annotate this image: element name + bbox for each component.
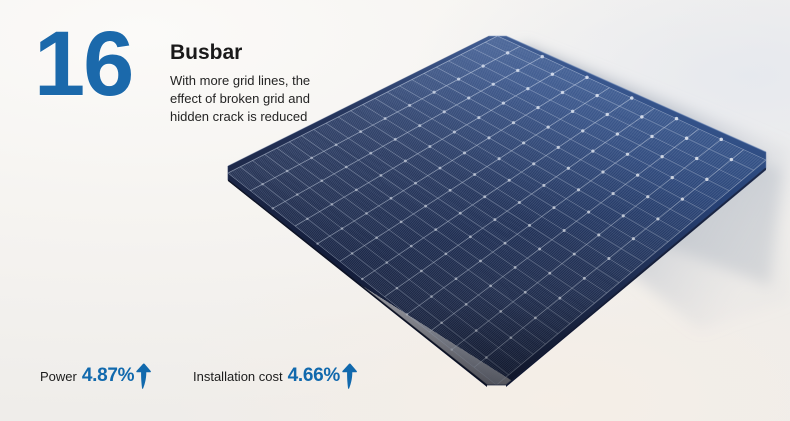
stat-power-label: Power [40,369,77,384]
slide-canvas: 16 Busbar With more grid lines, the effe… [0,0,790,421]
stat-power-value: 4.87% [82,365,134,387]
stat-power: Power 4.87% [40,363,152,389]
feature-description: With more grid lines, the effect of brok… [170,72,338,126]
page-title: Busbar [170,41,242,65]
feature-number: 16 [34,18,132,110]
stat-installation-cost-label: Installation cost [193,369,283,384]
arrow-up-icon [135,363,152,389]
stat-installation-cost-value: 4.66% [288,365,340,387]
arrow-up-icon [341,363,358,389]
stat-installation-cost: Installation cost 4.66% [193,363,358,389]
